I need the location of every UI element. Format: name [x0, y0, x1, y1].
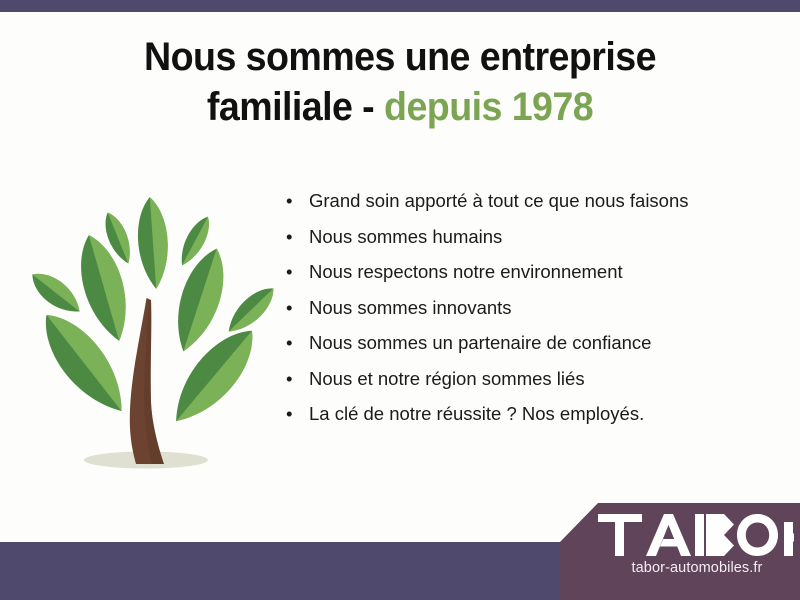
- list-item: •Nous sommes un partenaire de confiance: [282, 332, 782, 353]
- bullet-marker: •: [286, 261, 292, 282]
- list-item-label: Nous sommes innovants: [309, 297, 512, 318]
- title-line-2: familiale - depuis 1978: [62, 82, 739, 132]
- list-item-label: Nous sommes humains: [309, 226, 502, 247]
- bullet-marker: •: [286, 332, 292, 353]
- bullet-marker: •: [286, 368, 292, 389]
- leaf: [135, 196, 171, 290]
- list-item-label: Nous respectons notre environnement: [309, 261, 623, 282]
- list-item-label: Grand soin apporté à tout ce que nous fa…: [309, 190, 689, 211]
- bullet-marker: •: [286, 226, 292, 247]
- tree-icon: [18, 188, 286, 488]
- logo-tagline: tabor-automobiles.fr: [600, 560, 794, 576]
- leaf: [25, 265, 87, 320]
- top-accent-bar: [0, 0, 800, 12]
- list-item: •Grand soin apporté à tout ce que nous f…: [282, 190, 782, 211]
- list-item: •Nous sommes innovants: [282, 297, 782, 318]
- tree-illustration: [18, 188, 286, 488]
- value-list: •Grand soin apporté à tout ce que nous f…: [282, 190, 782, 439]
- list-item: •Nous sommes humains: [282, 226, 782, 247]
- list-item: •La clé de notre réussite ? Nos employés…: [282, 403, 782, 424]
- slide-canvas: Nous sommes une entreprise familiale - d…: [0, 0, 800, 600]
- list-item: •Nous respectons notre environnement: [282, 261, 782, 282]
- brand-logo[interactable]: tabor-automobiles.fr: [598, 514, 798, 594]
- tabor-wordmark-icon: [598, 514, 794, 556]
- bullet-marker: •: [286, 190, 292, 211]
- leaf: [160, 318, 267, 435]
- page-title: Nous sommes une entreprise familiale - d…: [62, 32, 739, 132]
- list-item-label: La clé de notre réussite ? Nos employés.: [309, 403, 644, 424]
- list-item: •Nous et notre région sommes liés: [282, 368, 782, 389]
- list-item-label: Nous et notre région sommes liés: [309, 368, 585, 389]
- title-line-2-accent: depuis 1978: [384, 85, 593, 129]
- leaf: [221, 281, 281, 340]
- title-line-1: Nous sommes une entreprise: [144, 35, 656, 79]
- title-line-2-plain: familiale -: [207, 85, 384, 129]
- list-item-label: Nous sommes un partenaire de confiance: [309, 332, 651, 353]
- bullet-marker: •: [286, 297, 292, 318]
- bullet-marker: •: [286, 403, 292, 424]
